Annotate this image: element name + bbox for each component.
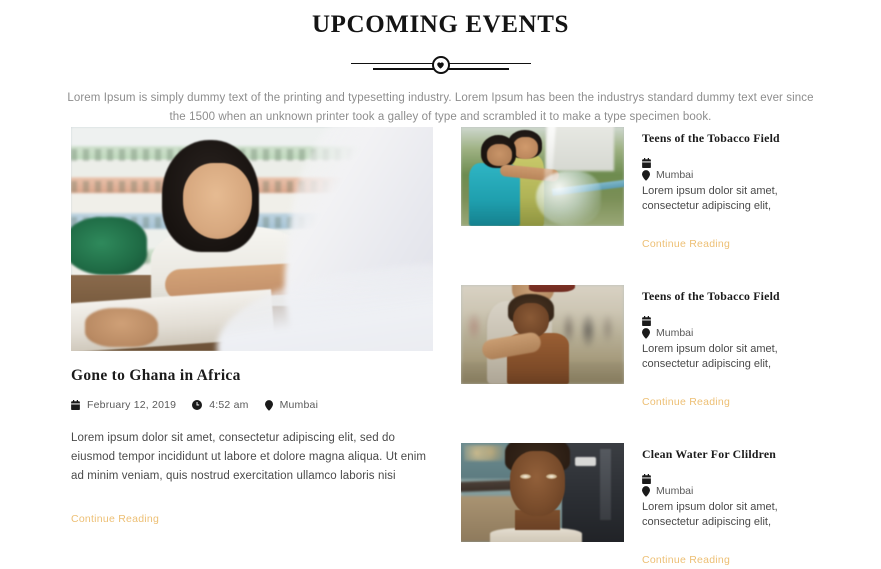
calendar-icon (71, 400, 80, 410)
map-pin-icon (642, 328, 650, 339)
event-body: Teens of the Tobacco Field (642, 127, 811, 252)
events-list: Teens of the Tobacco Field (461, 127, 811, 568)
ornamental-divider (351, 51, 531, 77)
divider-badge (432, 56, 450, 74)
featured-continue-reading-link[interactable]: Continue Reading (71, 513, 159, 525)
event-location-text: Mumbai (656, 484, 693, 499)
featured-post-excerpt: Lorem ipsum dolor sit amet, consectetur … (71, 429, 433, 486)
calendar-icon (642, 158, 651, 168)
calendar-icon (642, 474, 651, 484)
meta-time-text: 4:52 am (209, 399, 248, 411)
event-location: Mumbai (642, 326, 811, 341)
intro-paragraph: Lorem Ipsum is simply dummy text of the … (61, 89, 821, 127)
map-pin-icon (265, 400, 273, 411)
featured-post-meta: February 12, 2019 4:52 am (71, 399, 433, 411)
event-meta: Mumbai (642, 316, 811, 341)
event-excerpt: Lorem ipsum dolor sit amet, consectetur … (642, 184, 811, 215)
map-pin-icon (642, 486, 650, 497)
meta-location-text: Mumbai (280, 399, 319, 411)
event-meta: Mumbai (642, 474, 811, 499)
clock-icon (192, 400, 202, 410)
event-body: Clean Water For Clildren (642, 443, 811, 568)
event-date (642, 474, 811, 484)
event-location-text: Mumbai (656, 326, 693, 341)
event-meta: Mumbai (642, 158, 811, 183)
event-continue-reading-link[interactable]: Continue Reading (642, 238, 730, 250)
page-title: UPCOMING EVENTS (0, 10, 881, 40)
calendar-icon (642, 316, 651, 326)
event-excerpt: Lorem ipsum dolor sit amet, consectetur … (642, 500, 811, 531)
events-content: Gone to Ghana in Africa February 12, 201… (71, 127, 811, 568)
list-item: Teens of the Tobacco Field (461, 285, 811, 410)
event-body: Teens of the Tobacco Field (642, 285, 811, 410)
event-continue-reading-link[interactable]: Continue Reading (642, 554, 730, 566)
event-thumbnail[interactable] (461, 127, 624, 226)
list-item: Teens of the Tobacco Field (461, 127, 811, 252)
featured-image[interactable] (71, 127, 433, 351)
featured-post: Gone to Ghana in Africa February 12, 201… (71, 127, 433, 568)
event-continue-reading-link[interactable]: Continue Reading (642, 396, 730, 408)
event-location: Mumbai (642, 484, 811, 499)
event-title[interactable]: Teens of the Tobacco Field (642, 289, 811, 305)
meta-location: Mumbai (265, 399, 319, 411)
meta-date: February 12, 2019 (71, 399, 176, 411)
heart-icon (436, 61, 445, 69)
event-date (642, 158, 811, 168)
event-location: Mumbai (642, 168, 811, 183)
featured-post-title[interactable]: Gone to Ghana in Africa (71, 366, 433, 386)
upcoming-events-page: UPCOMING EVENTS Lorem Ipsum is simply du… (0, 10, 881, 569)
event-title[interactable]: Clean Water For Clildren (642, 447, 811, 463)
event-date (642, 316, 811, 326)
event-title[interactable]: Teens of the Tobacco Field (642, 131, 811, 147)
meta-time: 4:52 am (192, 399, 248, 411)
event-location-text: Mumbai (656, 168, 693, 183)
event-thumbnail[interactable] (461, 443, 624, 542)
list-item: Clean Water For Clildren (461, 443, 811, 568)
event-thumbnail[interactable] (461, 285, 624, 384)
meta-date-text: February 12, 2019 (87, 399, 176, 411)
event-excerpt: Lorem ipsum dolor sit amet, consectetur … (642, 342, 811, 373)
map-pin-icon (642, 170, 650, 181)
